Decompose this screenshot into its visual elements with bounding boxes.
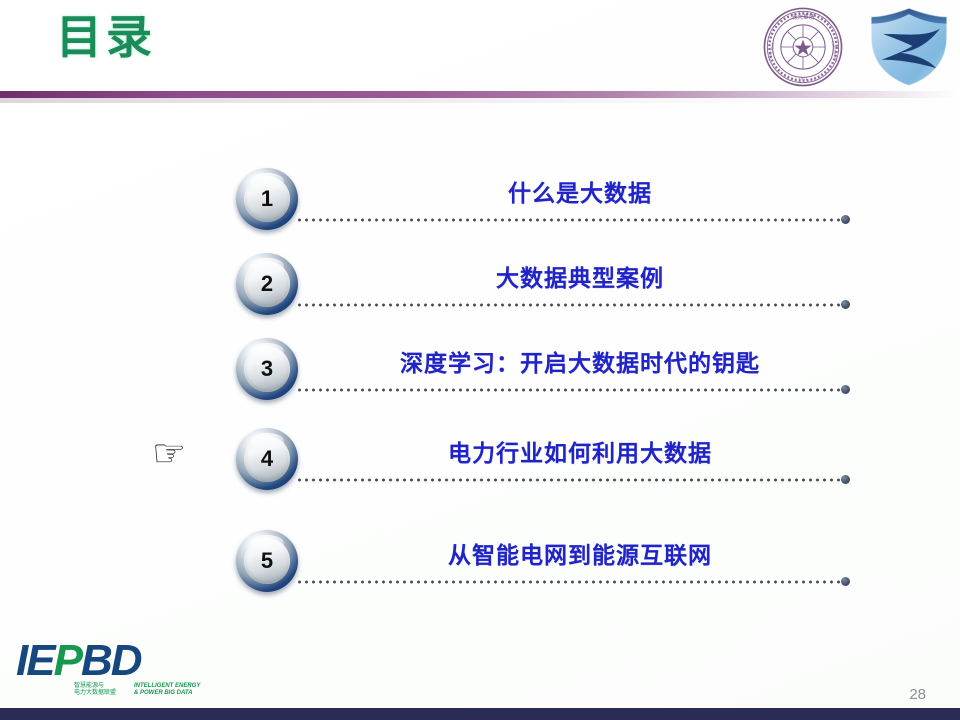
- footer-bar: [0, 708, 960, 720]
- item-number: 4: [261, 448, 273, 470]
- item-label[interactable]: 电力行业如何利用大数据: [300, 434, 860, 468]
- item-label[interactable]: 什么是大数据: [300, 174, 860, 208]
- iepbd-ie: IE: [16, 636, 54, 685]
- item-leader-end-dot: [841, 577, 850, 586]
- list-item[interactable]: 3 深度学习：开启大数据时代的钥匙: [0, 338, 960, 428]
- item-label[interactable]: 深度学习：开启大数据时代的钥匙: [300, 344, 860, 378]
- item-number: 1: [261, 188, 273, 210]
- item-leader-dots: [296, 478, 841, 482]
- item-leader-dots: [296, 580, 841, 584]
- iepbd-p: P: [54, 636, 81, 685]
- iepbd-acronym: IEPBD: [16, 638, 141, 684]
- iepbd-english-line2: & POWER BIG DATA: [134, 689, 192, 697]
- list-item[interactable]: 5 从智能电网到能源互联网: [0, 530, 960, 620]
- item-leader-end-dot: [841, 475, 850, 484]
- list-item[interactable]: 1 什么是大数据: [0, 168, 960, 258]
- list-item[interactable]: 2 大数据典型案例: [0, 253, 960, 343]
- item-leader-end-dot: [841, 300, 850, 309]
- pointing-hand-icon: ☞: [152, 434, 198, 474]
- item-leader-dots: [296, 388, 841, 392]
- item-leader-end-dot: [841, 215, 850, 224]
- page-number: 28: [909, 686, 926, 703]
- iepbd-chinese-line2: 电力大数据联盟: [74, 689, 116, 697]
- item-leader-dots: [296, 303, 841, 307]
- item-label[interactable]: 从智能电网到能源互联网: [300, 536, 860, 570]
- item-number-badge[interactable]: 1: [236, 168, 298, 230]
- iepbd-logo: IEPBD 智慧能源与 电力大数据联盟 INTELLIGENT ENERGY &…: [16, 638, 196, 700]
- item-number-badge[interactable]: 5: [236, 530, 298, 592]
- item-number-badge[interactable]: 3: [236, 338, 298, 400]
- contents-list: 1 什么是大数据 2 大数据典型案例 3 深度学习：开启大数据时代的钥匙 4: [0, 0, 960, 720]
- item-number: 2: [261, 273, 273, 295]
- list-item[interactable]: 4 电力行业如何利用大数据: [0, 428, 960, 518]
- item-number-badge[interactable]: 4: [236, 428, 298, 490]
- item-leader-end-dot: [841, 385, 850, 394]
- iepbd-bd: BD: [81, 636, 141, 685]
- item-number: 5: [261, 550, 273, 572]
- item-leader-dots: [296, 218, 841, 222]
- item-number: 3: [261, 358, 273, 380]
- presentation-slide: 目录 清大華清 1911 TSINGHUA UNIVERSITY: [0, 0, 960, 720]
- item-label[interactable]: 大数据典型案例: [300, 259, 860, 293]
- item-number-badge[interactable]: 2: [236, 253, 298, 315]
